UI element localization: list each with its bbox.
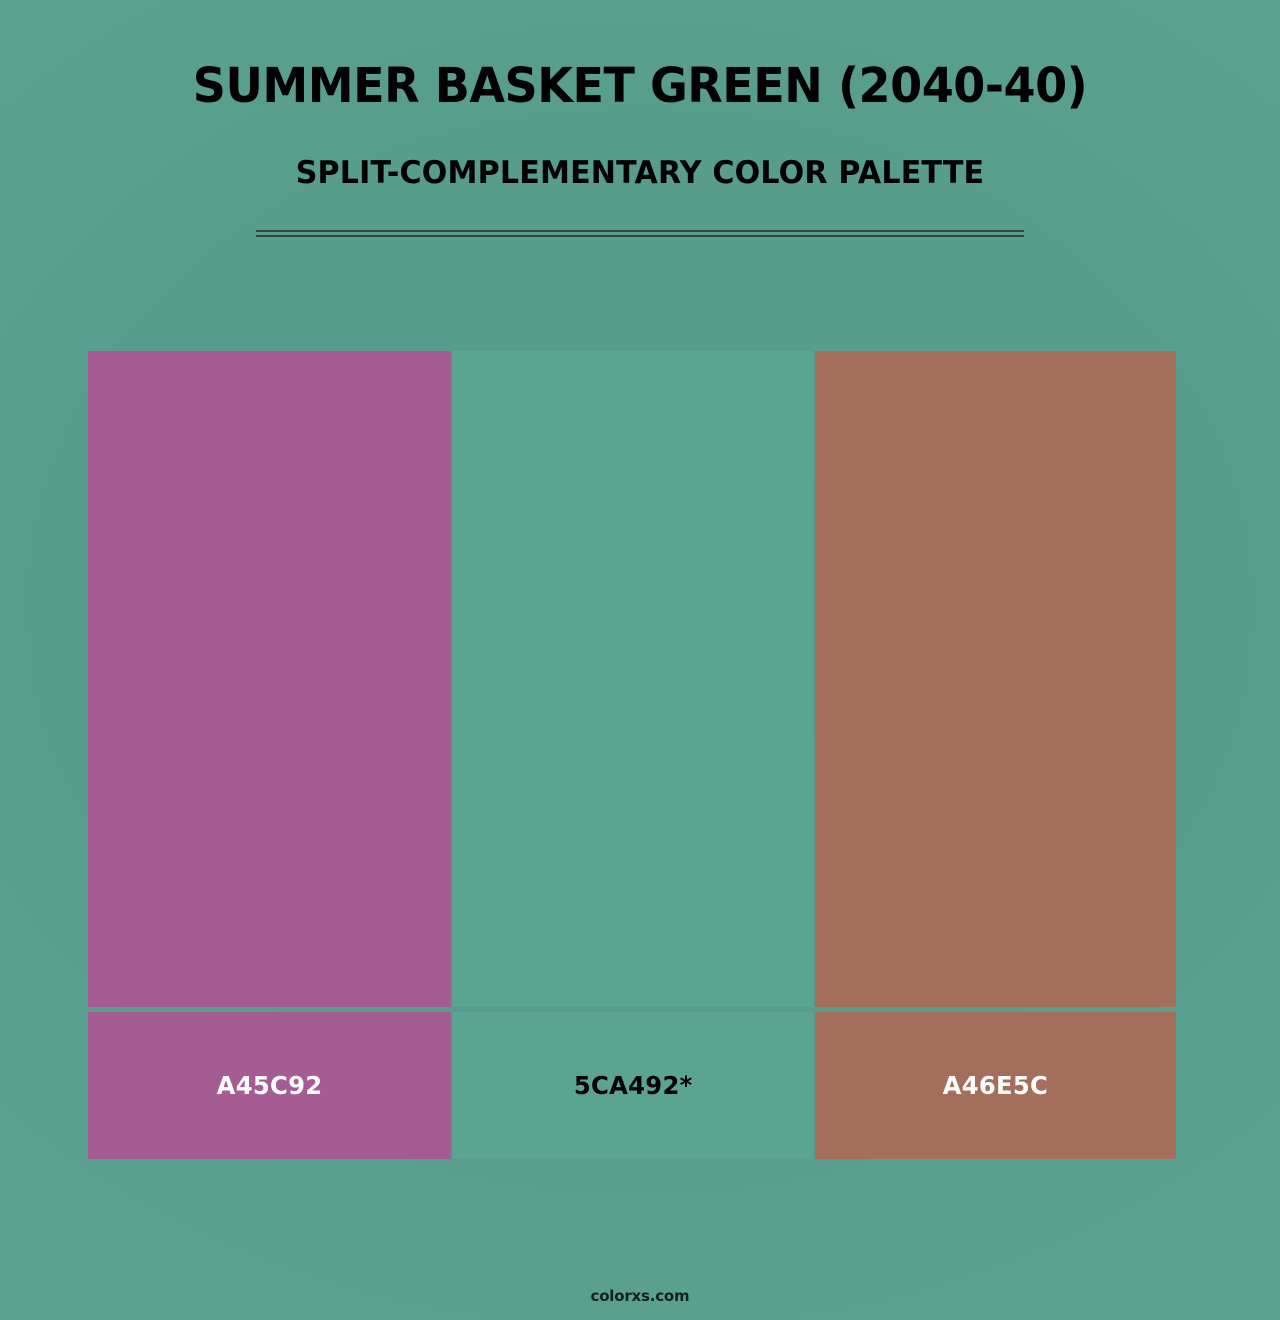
color-swatch-1[interactable] [453,351,813,1007]
divider-line-bottom [256,235,1024,237]
color-label-cell-2[interactable]: A46E5C [815,1012,1176,1159]
footer: colorxs.com [0,1286,1280,1305]
page-subtitle: SPLIT-COMPLEMENTARY COLOR PALETTE [19,110,1261,189]
color-hex-label-2: A46E5C [943,1071,1049,1100]
header: SUMMER BASKET GREEN (2040-40) SPLIT-COMP… [0,62,1280,189]
palette-poster: SUMMER BASKET GREEN (2040-40) SPLIT-COMP… [0,0,1280,1320]
color-label-cell-0[interactable]: A45C92 [88,1012,451,1159]
footer-site-label: colorxs.com [591,1287,690,1305]
color-swatch-panel: A45C92 5CA492* A46E5C [88,351,1176,1159]
divider-line-top [256,230,1024,232]
color-hex-label-1: 5CA492* [574,1071,693,1100]
page-title: SUMMER BASKET GREEN (2040-40) [26,62,1255,110]
swatch-row [88,351,1176,1007]
header-divider [256,230,1024,237]
color-label-cell-1[interactable]: 5CA492* [453,1012,813,1159]
color-swatch-2[interactable] [815,351,1176,1007]
color-swatch-0[interactable] [88,351,451,1007]
swatch-label-row: A45C92 5CA492* A46E5C [88,1012,1176,1159]
color-hex-label-0: A45C92 [217,1071,323,1100]
